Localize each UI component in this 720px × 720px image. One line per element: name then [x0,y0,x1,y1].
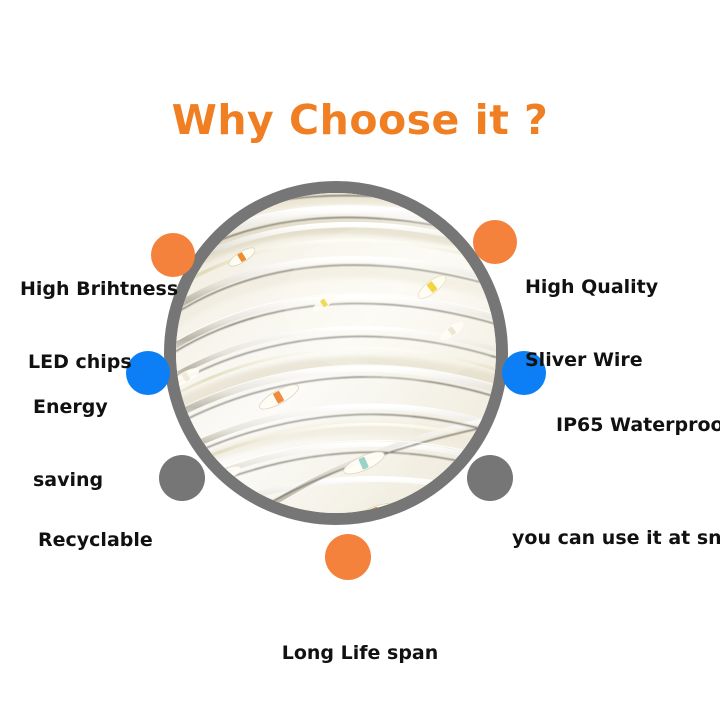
feature-label-snow-use: you can use it at snow [512,477,720,599]
feature-label-line1: Energy [33,395,108,419]
feature-dot-long-life-span[interactable] [325,534,371,580]
led-wire-photo [164,181,508,525]
why-choose-it-poster: Why Choose it ? [0,0,720,720]
feature-dot-snow-use[interactable] [467,455,513,501]
feature-label-line1: you can use it at snow [512,526,720,550]
product-photo-circle [164,181,508,525]
feature-label-line1: IP65 Waterproof [556,413,720,437]
feature-label-line1: Long Life span [0,641,720,665]
feature-label-line1: Recyclable [38,528,153,552]
feature-label-line1: High Quality [525,275,658,299]
feature-dot-high-quality[interactable] [473,220,517,264]
feature-label-recyclable: Recyclable [38,479,153,601]
page-title: Why Choose it ? [0,96,720,144]
feature-label-line1: High Brihtness [20,277,178,301]
feature-label-long-life-span: Long Life span [0,592,720,714]
feature-dot-recyclable[interactable] [159,455,205,501]
feature-label-ip65-waterproof: IP65 Waterproof [556,364,720,486]
